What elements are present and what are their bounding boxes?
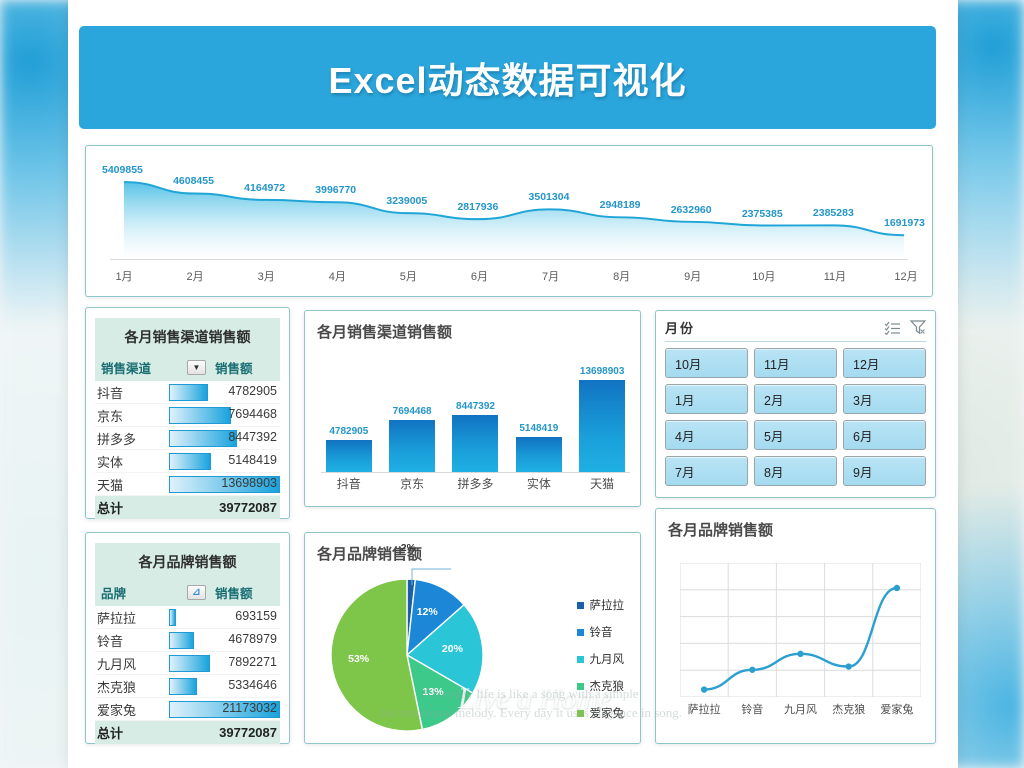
row-label: 杰克狼: [95, 677, 169, 696]
bar-column[interactable]: 7694468: [384, 406, 440, 472]
bar-chart-x-axis: 抖音京东拼多多实体天猫: [321, 475, 630, 492]
row-data-bar: [169, 678, 197, 695]
legend-item[interactable]: 九月风: [577, 651, 625, 667]
brand-value-header: 销售额: [206, 583, 276, 602]
brand-total-value: 39772087: [169, 725, 280, 740]
brand-pie-chart-card[interactable]: 各月品牌销售额 2%12%20%13%53% 萨拉拉铃音九月风杰克狼爱家兔: [304, 532, 641, 744]
legend-item[interactable]: 杰克狼: [577, 678, 625, 694]
row-label: 铃音: [95, 631, 169, 650]
area-x-tick: 2月: [177, 268, 213, 284]
area-x-tick: 7月: [533, 268, 569, 284]
chevron-down-icon[interactable]: ▼: [187, 360, 206, 375]
row-data-bar-cell: 8447392: [169, 429, 280, 448]
slicer-title: 月份: [665, 318, 695, 337]
row-value: 4782905: [228, 384, 277, 398]
slide-page: Excel动态数据可视化 540985546084554164972399677…: [68, 0, 958, 768]
row-value: 693159: [235, 609, 277, 623]
page-header-banner: Excel动态数据可视化: [79, 26, 936, 129]
row-value: 21173032: [222, 701, 277, 715]
area-x-tick: 9月: [675, 268, 711, 284]
area-data-label: 3501304: [529, 191, 570, 203]
brand-total-label: 总计: [95, 723, 169, 742]
bar-rect: [579, 380, 625, 472]
channel-pivot-table-card[interactable]: 各月销售渠道销售额 销售渠道 ▼ 销售额 抖音4782905京东7694468拼…: [85, 307, 290, 519]
legend-label: 杰克狼: [590, 678, 625, 694]
brand-pivot-column-headers: 品牌 ⊿ 销售额: [95, 580, 280, 606]
slicer-button-3月[interactable]: 3月: [843, 384, 926, 414]
channel-pivot-column-headers: 销售渠道 ▼ 销售额: [95, 355, 280, 381]
area-data-label: 2375385: [742, 208, 783, 220]
table-row[interactable]: 拼多多8447392: [95, 427, 280, 450]
row-data-bar-cell: 693159: [169, 608, 280, 627]
line-chart-x-axis: 萨拉拉铃音九月风杰克狼爱家兔: [680, 701, 921, 717]
legend-swatch: [577, 602, 584, 609]
line-series: [704, 588, 897, 690]
row-data-bar: [169, 384, 208, 401]
row-label: 实体: [95, 452, 169, 471]
bar-rect: [326, 440, 372, 472]
legend-label: 九月风: [590, 651, 625, 667]
bar-x-tick: 实体: [511, 475, 567, 492]
row-data-bar: [169, 453, 211, 470]
pie-chart-title: 各月品牌销售额: [317, 543, 628, 564]
bar-chart-title: 各月销售渠道销售额: [317, 321, 628, 342]
area-data-label: 3996770: [315, 184, 356, 196]
row-label: 爱家兔: [95, 700, 169, 719]
bar-data-label: 7694468: [393, 406, 432, 417]
row-value: 7892271: [228, 655, 277, 669]
table-row[interactable]: 抖音4782905: [95, 381, 280, 404]
line-x-tick: 九月风: [776, 701, 824, 717]
line-x-tick: 杰克狼: [825, 701, 873, 717]
line-x-tick: 萨拉拉: [680, 701, 728, 717]
month-slicer-card[interactable]: 月份 10月11月12月1月2月3月4月5月6月7月8月9月: [655, 310, 936, 498]
table-row[interactable]: 天猫13698903: [95, 473, 280, 496]
bar-column[interactable]: 13698903: [574, 366, 630, 472]
area-data-label: 2948189: [600, 199, 641, 211]
slicer-button-9月[interactable]: 9月: [843, 456, 926, 486]
slicer-button-grid: 10月11月12月1月2月3月4月5月6月7月8月9月: [665, 348, 926, 486]
row-data-bar: [169, 655, 210, 672]
row-label: 萨拉拉: [95, 608, 169, 627]
row-value: 7694468: [228, 407, 277, 421]
legend-swatch: [577, 629, 584, 636]
legend-label: 爱家兔: [590, 705, 625, 721]
channel-bar-chart-card[interactable]: 各月销售渠道销售额 478290576944688447392514841913…: [304, 310, 641, 507]
legend-swatch: [577, 710, 584, 717]
channel-dim-header: 销售渠道: [101, 358, 187, 377]
bar-data-label: 8447392: [456, 401, 495, 412]
row-label: 抖音: [95, 383, 169, 402]
table-row[interactable]: 铃音4678979: [95, 629, 280, 652]
slicer-button-5月[interactable]: 5月: [754, 420, 837, 450]
row-data-bar-cell: 4678979: [169, 631, 280, 650]
area-data-label: 4164972: [244, 182, 285, 194]
brand-pivot-total-row: 总计 39772087: [95, 721, 280, 744]
brand-line-chart-card[interactable]: 各月品牌销售额 萨拉拉铃音九月风杰克狼爱家兔: [655, 508, 936, 744]
line-x-tick: 铃音: [728, 701, 776, 717]
line-data-point[interactable]: [749, 667, 755, 673]
row-label: 九月风: [95, 654, 169, 673]
bar-column[interactable]: 5148419: [511, 423, 567, 472]
table-row[interactable]: 京东7694468: [95, 404, 280, 427]
legend-label: 萨拉拉: [590, 597, 625, 613]
area-data-label: 2385283: [813, 207, 854, 219]
channel-pivot-title: 各月销售渠道销售额: [95, 318, 280, 355]
channel-pivot-total-row: 总计 39772087: [95, 496, 280, 519]
row-data-bar-cell: 4782905: [169, 383, 280, 402]
slicer-button-12月[interactable]: 12月: [843, 348, 926, 378]
bar-x-tick: 天猫: [574, 475, 630, 492]
brand-pivot-rows: 萨拉拉693159铃音4678979九月风7892271杰克狼5334646爱家…: [95, 606, 280, 721]
page-title: Excel动态数据可视化: [328, 52, 686, 104]
legend-item[interactable]: 爱家兔: [577, 705, 625, 721]
area-data-label: 5409855: [102, 164, 143, 176]
line-chart-svg: [680, 563, 921, 697]
table-row[interactable]: 杰克狼5334646: [95, 675, 280, 698]
slicer-button-6月[interactable]: 6月: [843, 420, 926, 450]
brand-pivot-title: 各月品牌销售额: [95, 543, 280, 580]
pie-percent-label: 20%: [442, 643, 463, 655]
line-data-point[interactable]: [701, 686, 707, 692]
legend-swatch: [577, 683, 584, 690]
bar-data-label: 5148419: [519, 423, 558, 434]
pie-percent-label: 12%: [417, 606, 438, 618]
bar-x-tick: 京东: [384, 475, 440, 492]
slicer-button-2月[interactable]: 2月: [754, 384, 837, 414]
legend-item[interactable]: 铃音: [577, 624, 625, 640]
area-x-tick: 10月: [746, 268, 782, 284]
legend-label: 铃音: [590, 624, 613, 640]
row-data-bar: [169, 407, 231, 424]
slicer-button-11月[interactable]: 11月: [754, 348, 837, 378]
row-data-bar-cell: 13698903: [169, 475, 280, 494]
area-x-tick: 12月: [888, 268, 924, 284]
legend-swatch: [577, 656, 584, 663]
area-data-label: 4608455: [173, 175, 214, 187]
table-row[interactable]: 实体5148419: [95, 450, 280, 473]
row-data-bar-cell: 7694468: [169, 406, 280, 425]
row-label: 京东: [95, 406, 169, 425]
channel-value-header: 销售额: [206, 358, 276, 377]
area-x-tick: 8月: [604, 268, 640, 284]
bar-x-tick: 抖音: [321, 475, 377, 492]
bar-rect: [452, 415, 498, 472]
table-row[interactable]: 萨拉拉693159: [95, 606, 280, 629]
row-value: 4678979: [228, 632, 277, 646]
bar-column[interactable]: 8447392: [448, 401, 504, 472]
clear-filter-icon[interactable]: [910, 320, 926, 335]
sort-ascending-icon[interactable]: ⊿: [187, 585, 206, 600]
area-x-tick: 5月: [390, 268, 426, 284]
row-data-bar: [169, 632, 194, 649]
pie-percent-label: 2%: [401, 542, 416, 554]
row-data-bar: [169, 609, 176, 626]
pie-chart-legend: 萨拉拉铃音九月风杰克狼爱家兔: [577, 597, 625, 721]
slicer-button-4月[interactable]: 4月: [665, 420, 748, 450]
area-data-label: 1691973: [884, 217, 925, 229]
channel-total-label: 总计: [95, 498, 169, 517]
row-label: 拼多多: [95, 429, 169, 448]
row-value: 5334646: [228, 678, 277, 692]
area-x-tick: 3月: [248, 268, 284, 284]
table-row[interactable]: 九月风7892271: [95, 652, 280, 675]
area-x-tick: 4月: [319, 268, 355, 284]
table-row[interactable]: 爱家兔21173032: [95, 698, 280, 721]
slicer-button-7月[interactable]: 7月: [665, 456, 748, 486]
bar-chart-plot: 478290576944688447392514841913698903: [321, 363, 630, 473]
channel-total-value: 39772087: [169, 500, 280, 515]
slicer-header: 月份: [665, 318, 926, 342]
area-x-tick: 11月: [817, 268, 853, 284]
slicer-button-1月[interactable]: 1月: [665, 384, 748, 414]
area-x-tick: 1月: [106, 268, 142, 284]
area-x-tick: 6月: [461, 268, 497, 284]
monthly-sales-area-chart-card[interactable]: 5409855460845541649723996770323900528179…: [85, 145, 933, 297]
bar-column[interactable]: 4782905: [321, 426, 377, 472]
line-data-point[interactable]: [894, 585, 900, 591]
row-value: 8447392: [228, 430, 277, 444]
bar-data-label: 13698903: [580, 366, 625, 377]
bar-rect: [516, 437, 562, 472]
area-data-label: 2632960: [671, 204, 712, 216]
row-label: 天猫: [95, 475, 169, 494]
multi-select-icon[interactable]: [884, 321, 901, 335]
row-data-bar-cell: 7892271: [169, 654, 280, 673]
channel-pivot-rows: 抖音4782905京东7694468拼多多8447392实体5148419天猫1…: [95, 381, 280, 496]
row-data-bar-cell: 21173032: [169, 700, 280, 719]
legend-item[interactable]: 萨拉拉: [577, 597, 625, 613]
pie-percent-label: 53%: [348, 653, 369, 665]
bar-data-label: 4782905: [329, 426, 368, 437]
line-x-tick: 爱家兔: [873, 701, 921, 717]
bar-rect: [389, 420, 435, 472]
line-data-point[interactable]: [797, 651, 803, 657]
bar-x-tick: 拼多多: [448, 475, 504, 492]
row-value: 13698903: [221, 476, 277, 490]
area-data-label: 2817936: [457, 201, 498, 213]
line-chart-plot: [680, 563, 921, 697]
line-chart-title: 各月品牌销售额: [668, 519, 923, 540]
row-value: 5148419: [228, 453, 277, 467]
area-data-label: 3239005: [386, 195, 427, 207]
pie-percent-label: 13%: [423, 686, 444, 698]
row-data-bar-cell: 5334646: [169, 677, 280, 696]
slicer-button-10月[interactable]: 10月: [665, 348, 748, 378]
row-data-bar-cell: 5148419: [169, 452, 280, 471]
slicer-button-8月[interactable]: 8月: [754, 456, 837, 486]
row-data-bar: [169, 430, 237, 447]
brand-pivot-table-card[interactable]: 各月品牌销售额 品牌 ⊿ 销售额 萨拉拉693159铃音4678979九月风78…: [85, 532, 290, 744]
line-data-point[interactable]: [846, 663, 852, 669]
brand-dim-header: 品牌: [101, 583, 187, 602]
